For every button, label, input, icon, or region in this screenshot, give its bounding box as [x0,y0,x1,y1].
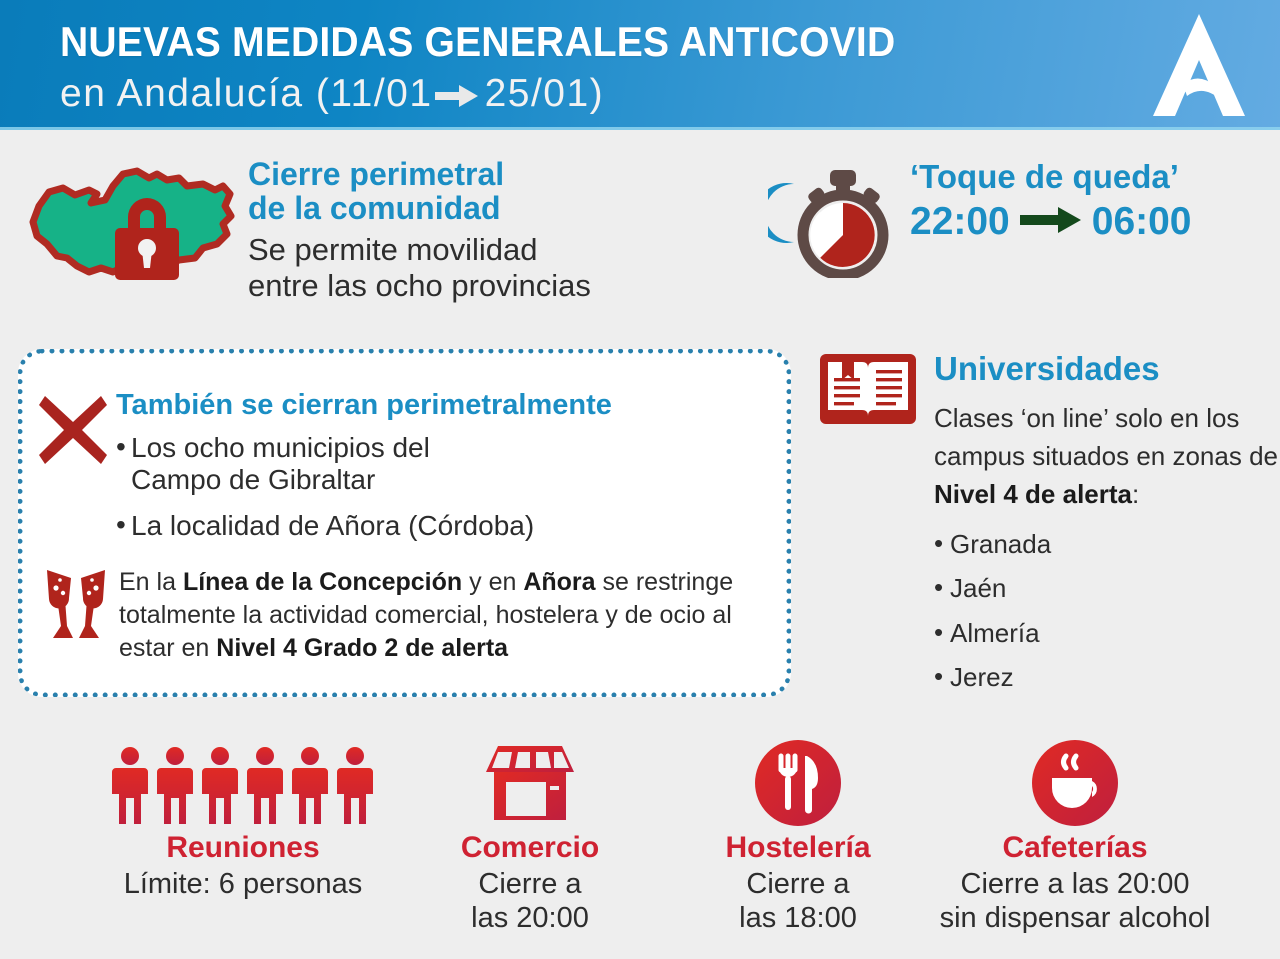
fork-and-knife-circle-icon [690,742,906,826]
subtitle-suffix: 25/01) [485,72,605,116]
restriction-title: Comercio [432,832,628,864]
restriction-title: Hostelería [690,832,906,864]
perimeter-body-line2: entre las ocho provincias [248,268,591,303]
toasting-glasses-icon [43,568,109,644]
para-text-2: y en [462,568,523,596]
page-title: NUEVAS MEDIDAS GENERALES ANTICOVID [60,18,895,66]
perimeter-heading-line1: Cierre perimetral [248,156,504,192]
open-book-icon [818,352,918,426]
also-closed-title: También se cierran perimetralmente [116,389,612,422]
also-closed-box: También se cierran perimetralmente Los o… [18,349,791,697]
curfew-title: ‘Toque de queda’ [910,158,1192,196]
para-bold-3: Nivel 4 Grado 2 de alerta [216,634,508,662]
page-header: NUEVAS MEDIDAS GENERALES ANTICOVID en An… [0,0,1280,130]
perimeter-heading: Cierre perimetral de la comunidad [248,158,591,226]
list-item: La localidad de Añora (Córdoba) [116,510,776,542]
list-item-label: Jerez [950,662,1014,692]
page-subtitle: en Andalucía (11/01 25/01) [60,72,604,116]
restriction-title: Cafeterías [910,832,1240,864]
para-bold-1: Línea de la Concepción [183,568,462,596]
uni-text-1: Clases ‘on line’ solo en los campus situ… [934,403,1278,471]
restriction-column-reuniones: Reuniones Límite: 6 personas [78,742,408,901]
shop-storefront-icon [432,742,628,826]
perimeter-body-line1: Se permite movilidad [248,232,537,267]
stopwatch-with-moon-icon [768,162,893,278]
uni-bold-1: Nivel 4 de alerta [934,479,1132,509]
list-item: Almería [934,619,1264,648]
junta-de-andalucia-a-logo [1153,14,1245,116]
restriction-title: Reuniones [78,832,408,864]
list-item: Jerez [934,663,1264,692]
list-item: Los ocho municipios del Campo de Gibralt… [116,432,776,496]
subtitle-prefix: en Andalucía (11/01 [60,72,433,116]
six-people-icon [78,742,408,826]
restriction-subtitle: Cierre a las 18:00 [690,867,906,935]
arrow-right-icon [1020,200,1082,244]
curfew-text-block: ‘Toque de queda’ 22:00 06:00 [910,158,1192,244]
restriction-subtitle: Cierre a las 20:00 [432,867,628,935]
restriction-subtitle: Límite: 6 personas [78,867,408,901]
universities-city-list: Granada Jaén Almería Jerez [934,530,1264,708]
list-item-label: Almería [950,618,1040,648]
curfew-section: ‘Toque de queda’ 22:00 06:00 [760,150,1280,290]
also-closed-list: Los ocho municipios del Campo de Gibralt… [116,432,776,556]
restriction-subtitle: Cierre a las 20:00 sin dispensar alcohol [910,867,1240,935]
coffee-cup-circle-icon [910,742,1240,826]
uni-text-2: : [1132,479,1139,509]
perimeter-body: Se permite movilidad entre las ocho prov… [248,232,591,304]
list-item-label: Los ocho municipios del Campo de Gibralt… [131,432,430,495]
restriction-column-hosteleria: Hostelería Cierre a las 18:00 [690,742,906,935]
perimeter-text-block: Cierre perimetral de la comunidad Se per… [248,158,591,304]
para-text-1: En la [119,568,183,596]
restriction-column-comercio: Comercio Cierre a las 20:00 [432,742,628,935]
list-item: Jaén [934,574,1264,603]
andalusia-map-with-padlock-icon [27,162,237,282]
perimeter-heading-line2: de la comunidad [248,190,500,226]
also-closed-paragraph: En la Línea de la Concepción y en Añora … [119,566,779,665]
curfew-times: 22:00 06:00 [910,200,1192,244]
perimeter-closure-section: Cierre perimetral de la comunidad Se per… [20,150,660,330]
red-cross-icon [39,396,107,464]
restrictions-row: Reuniones Límite: 6 personas [0,742,1280,959]
list-item: Granada [934,530,1264,559]
universities-title: Universidades [934,350,1160,388]
list-item-label: La localidad de Añora (Córdoba) [131,510,534,541]
list-item-label: Granada [950,529,1051,559]
universities-body: Clases ‘on line’ solo en los campus situ… [934,400,1280,514]
restriction-column-cafeterias: Cafeterías Cierre a las 20:00 sin dispen… [910,742,1240,935]
para-bold-2: Añora [523,568,595,596]
curfew-start-time: 22:00 [910,200,1010,244]
list-item-label: Jaén [950,573,1006,603]
arrow-right-icon [435,75,479,119]
curfew-end-time: 06:00 [1092,200,1192,244]
